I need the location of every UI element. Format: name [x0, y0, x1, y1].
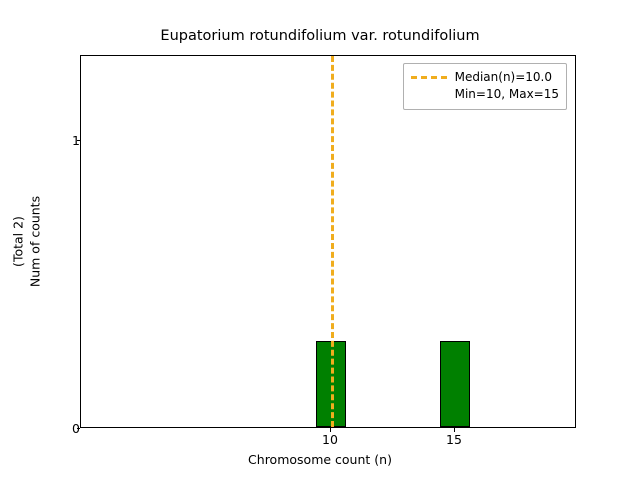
legend-label-median: Median(n)=10.0: [455, 69, 552, 86]
legend-dashed-line-icon: [411, 76, 447, 79]
x-tick-label-10: 10: [310, 432, 350, 447]
legend-label-minmax: Min=10, Max=15: [455, 86, 559, 103]
bars-layer: [81, 56, 575, 427]
legend-entry-minmax: Min=10, Max=15: [411, 86, 559, 103]
legend-entry-median: Median(n)=10.0: [411, 69, 559, 86]
x-tick-mark-10: [330, 428, 331, 432]
y-axis-label-line1: Num of counts: [28, 152, 43, 332]
legend-blank-icon: [411, 93, 447, 96]
legend: Median(n)=10.0 Min=10, Max=15: [403, 63, 567, 110]
x-axis-label: Chromosome count (n): [0, 452, 640, 467]
x-tick-mark-15: [454, 428, 455, 432]
y-tick-label-1: 1: [0, 133, 87, 148]
chart-figure: Eupatorium rotundifolium var. rotundifol…: [0, 0, 640, 480]
y-axis-label-line2: (Total 2): [11, 152, 26, 332]
plot-area: Median(n)=10.0 Min=10, Max=15: [80, 55, 576, 428]
x-tick-label-15: 15: [434, 432, 474, 447]
y-tick-label-0: 0: [0, 421, 87, 436]
median-line: [331, 56, 334, 427]
y-tick-mark-0: [77, 428, 81, 429]
bar-15: [440, 341, 470, 427]
chart-title: Eupatorium rotundifolium var. rotundifol…: [0, 28, 640, 44]
